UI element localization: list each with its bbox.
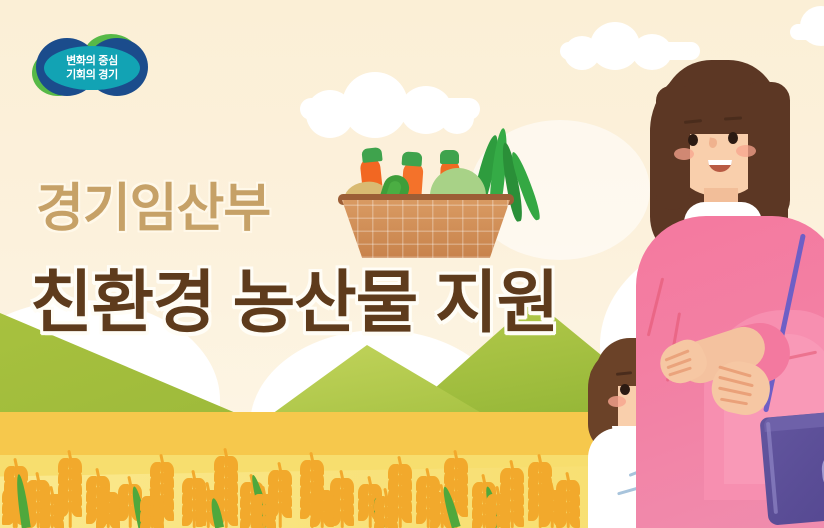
wheat-grain [227, 511, 238, 526]
wheat-grain [323, 512, 334, 527]
mother-eye-right [728, 132, 738, 144]
mother-cheek-right [736, 145, 756, 157]
wheat-stalk [96, 492, 120, 528]
carrot-top-icon [440, 150, 459, 164]
wheat-stalk [486, 494, 510, 528]
wheat-grain [486, 516, 497, 528]
wheat-grain [540, 512, 551, 527]
wheat-grain [40, 516, 51, 528]
wheat-stalk [252, 494, 276, 528]
promo-banner: 경기임산부 친환경 농산물 지원 변화의 중심 기회의 경기 [0, 0, 824, 528]
wheat-grain [401, 508, 412, 523]
wheat-grain [416, 509, 427, 524]
wheat-grain [281, 503, 292, 518]
logo-text-line-2: 기회의 경기 [66, 69, 118, 83]
wheat-grain [374, 518, 385, 528]
wheat-grain [163, 506, 174, 521]
wheat-grain [472, 515, 483, 528]
wheat-stalk [140, 496, 164, 528]
gyeonggi-logo[interactable]: 변화의 중심 기회의 경기 [30, 32, 154, 102]
wheat-grain [343, 511, 354, 526]
wheat-grain [109, 514, 120, 528]
pregnant-woman-illustration [612, 62, 824, 528]
wheat-grain [310, 512, 321, 527]
mother-eye-left [688, 134, 698, 146]
carrot-top-icon [402, 151, 423, 166]
vegetable-basket [330, 128, 540, 260]
mother-teeth [708, 160, 732, 165]
wheat-stalk [374, 496, 398, 528]
carrot-top-icon [361, 147, 382, 163]
wheat-stalk [310, 490, 334, 528]
headline-line-1: 경기임산부 [36, 166, 270, 241]
wheat-stalk [40, 494, 64, 528]
logo-text: 변화의 중심 기회의 경기 [44, 48, 140, 90]
wheat-grain [2, 510, 13, 525]
wheat-grain [430, 514, 441, 528]
wheat-grain [140, 518, 151, 528]
wheat-grain [240, 515, 251, 528]
wheat-grain [71, 502, 82, 517]
mother-cheek-left [674, 148, 694, 160]
page-title: 친환경 농산물 지원 [30, 247, 558, 346]
wheat-grain [457, 502, 468, 517]
wheat-grain [569, 513, 580, 528]
wheat-grain [96, 514, 107, 528]
wheat-grain [513, 512, 524, 527]
cloud-icon [560, 22, 700, 60]
logo-text-line-1: 변화의 중심 [66, 55, 118, 69]
cloud-icon [790, 6, 824, 40]
wheat-stalk [540, 490, 564, 528]
wheat-grain [196, 512, 207, 527]
wheat-grain [252, 516, 263, 528]
wheat-grain [528, 506, 539, 521]
wheat-grain [358, 506, 369, 521]
wheat-grain [553, 512, 564, 527]
cloud-icon [300, 72, 480, 120]
wheat-grain [182, 511, 193, 526]
